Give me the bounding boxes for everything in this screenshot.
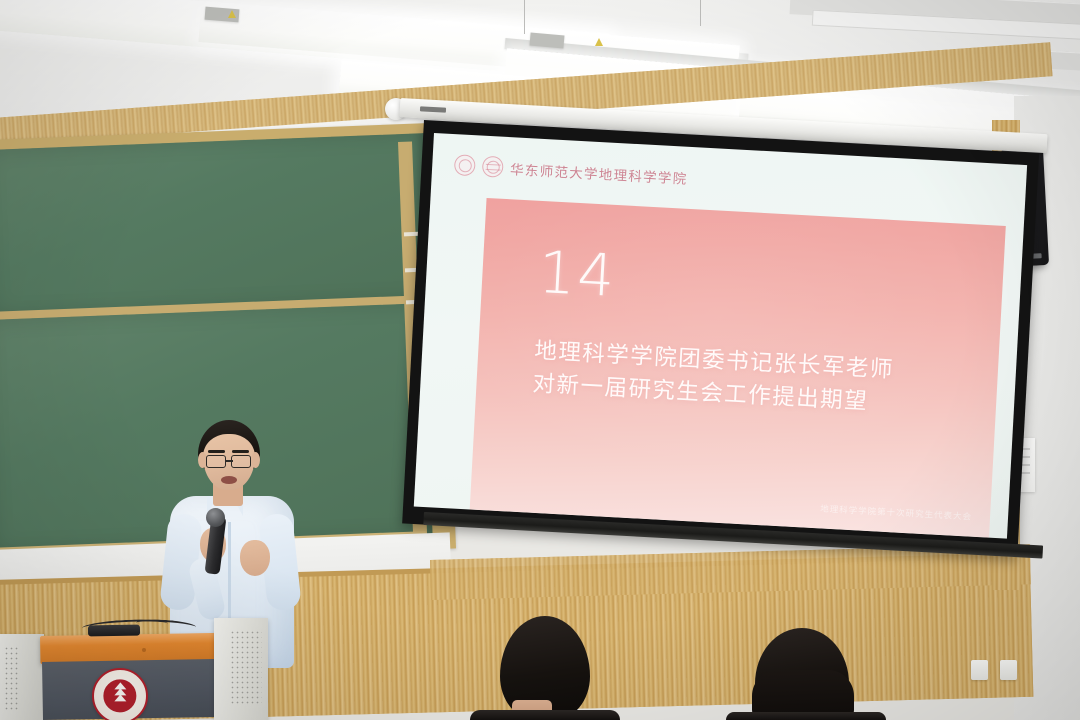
presenter-hand-gesture [240, 540, 270, 576]
warning-triangle-icon [228, 10, 236, 18]
slide-number: 14 [537, 243, 618, 305]
projection-screen-surface: 华东师范大学地理科学学院 14 地理科学学院团委书记张长军老师 对新一届研究生会… [414, 133, 1027, 539]
warning-triangle-icon [595, 38, 603, 46]
hanging-wire [524, 0, 525, 34]
lecture-hall-photo: 华东师范大学地理科学学院 14 地理科学学院团委书记张长军老师 对新一届研究生会… [0, 0, 1080, 720]
ecnu-seal-trunk [119, 686, 121, 694]
presenter-glasses-left-lens [206, 455, 226, 468]
ecnu-seal-inner [103, 679, 136, 712]
audience-right-shoulders [726, 712, 886, 720]
slide-footer-watermark: 地理科学学院第十次研究生代表大会 [820, 502, 972, 522]
ecnu-seal-icon [92, 668, 148, 720]
chalkboard-panel-upper [0, 133, 430, 316]
audience-left-shoulders [470, 710, 620, 720]
microphone-head [206, 508, 225, 527]
presenter-eyebrow-right [232, 450, 249, 453]
podium-right-grille [230, 630, 262, 706]
presenter-glasses-bridge [226, 460, 233, 462]
slide-institution-title: 华东师范大学地理科学学院 [510, 158, 688, 188]
presenter-glasses-right-lens [231, 455, 251, 468]
slide-header: 华东师范大学地理科学学院 [454, 154, 688, 188]
podium-desktop-highlight [40, 632, 242, 645]
presenter-ear-right [251, 452, 260, 468]
presenter-eyebrow-left [208, 450, 225, 453]
hanging-wire [700, 0, 701, 26]
ecnu-crest-icon [454, 154, 476, 176]
podium-screw [142, 648, 146, 652]
slide-content-panel: 14 地理科学学院团委书记张长军老师 对新一届研究生会工作提出期望 地理科学学院… [470, 198, 1006, 538]
presenter-mouth [221, 476, 237, 484]
wall-outlet[interactable] [971, 660, 988, 680]
wall-outlet[interactable] [1000, 660, 1017, 680]
podium-side-grille [4, 646, 20, 712]
geography-school-crest-icon [482, 156, 504, 178]
